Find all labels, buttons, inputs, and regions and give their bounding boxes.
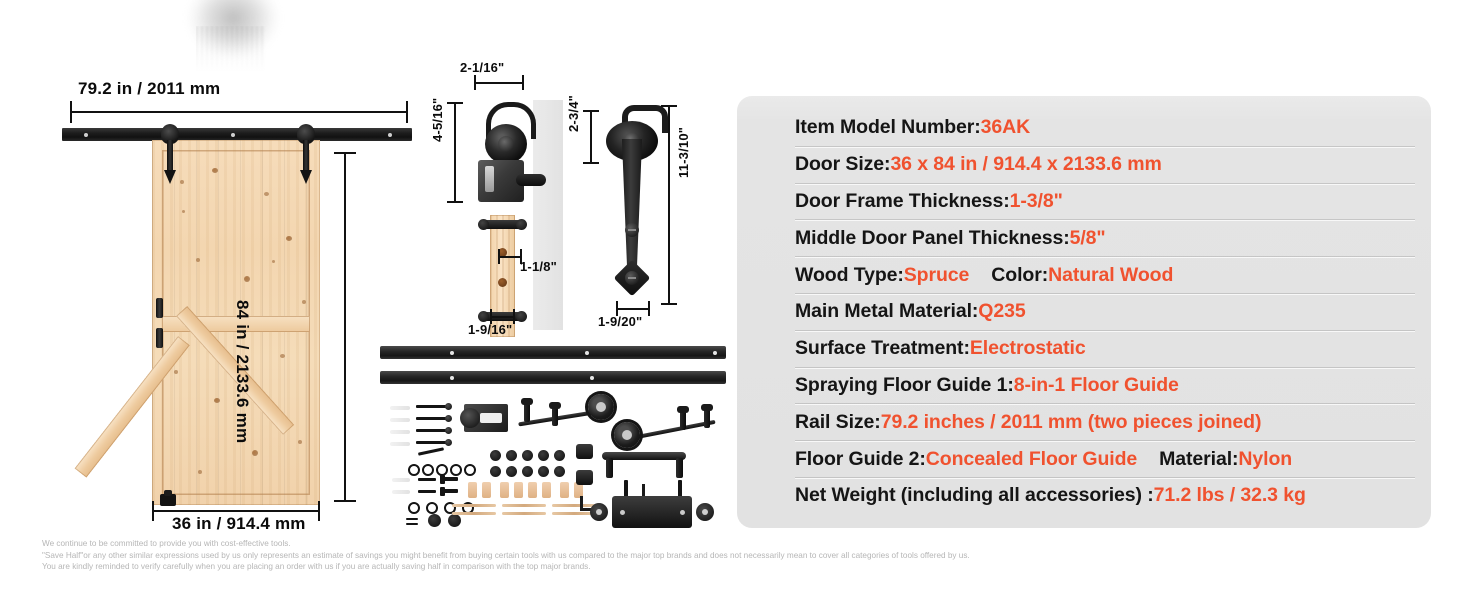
wrench-tool (418, 447, 444, 455)
hanger-wheel-diameter-label: 2-3/4" (566, 95, 581, 132)
hex-nut (554, 450, 565, 461)
post-offset-label: 1-1/8" (520, 259, 557, 274)
track-rail-piece-2 (380, 371, 726, 384)
roller-width-cap-left (474, 75, 476, 90)
spec-value: 8-in-1 Floor Guide (1014, 374, 1179, 397)
plate-hole (620, 510, 625, 515)
wood-knot (174, 370, 178, 374)
spec-value: 1-3/8" (1010, 190, 1063, 213)
wood-knot (298, 440, 302, 444)
roller-height-cap-bottom (447, 201, 463, 203)
included-parts-layout (380, 340, 730, 535)
roller-width-cap-right (522, 75, 524, 90)
floor-guide-bracket (160, 494, 176, 506)
rubber-bumper (448, 514, 461, 527)
spec-row: Main Metal Material: Q235 (795, 294, 1415, 331)
disclaimer-line-3: You are kindly reminded to verify carefu… (42, 561, 1142, 573)
wall-anchor (482, 482, 491, 498)
hanger-wheel-cap-bottom (583, 162, 599, 164)
spec-value: 36 x 84 in / 914.4 x 2133.6 mm (890, 153, 1161, 176)
door-height-label: 84 in / 2133.6 mm (232, 300, 252, 443)
wall-anchor (542, 482, 551, 498)
spec-row: Wood Type: SpruceColor: Natural Wood (795, 257, 1415, 294)
roller-height-dimension-line (454, 102, 456, 203)
door-width-label: 36 in / 914.4 mm (172, 514, 306, 534)
track-hole (590, 376, 594, 380)
spacer-sleeve (390, 418, 410, 422)
small-washer (408, 464, 420, 476)
product-spec-image: 79.2 in / 2011 mm (0, 0, 1464, 600)
small-washer (464, 464, 476, 476)
bolt-head (445, 403, 452, 410)
door-assembly-diagram: 79.2 in / 2011 mm (0, 0, 430, 535)
lag-screw (502, 512, 546, 515)
guide-wheel (696, 503, 714, 521)
rubber-bumper (428, 514, 441, 527)
post-width-dimension-line (490, 316, 515, 318)
hanger-detail-strap (620, 139, 644, 271)
disclaimer-text: We continue to be committed to provide y… (42, 538, 1142, 573)
door-hanger-right (297, 124, 315, 184)
rail-width-dimension-cap-right (406, 101, 408, 123)
flat-washer (506, 466, 517, 477)
hardware-detail-diagram: 2-1/16" 4-5/16" 1-1/8" 1-9/16" 2-3/4" 11… (420, 60, 720, 350)
hanger-wheel-dimension-line (590, 110, 592, 164)
wood-knot (198, 470, 202, 474)
bolt-head (445, 439, 452, 446)
door-height-dimension-line (344, 152, 346, 502)
wood-knot (286, 236, 292, 241)
wood-knot (272, 260, 275, 263)
pin (406, 523, 418, 525)
roller-arm (516, 174, 546, 186)
track-hole (450, 376, 454, 380)
wood-knot (212, 168, 218, 173)
track-hole (585, 351, 589, 355)
track-stopper (576, 444, 593, 459)
hanger-tip (300, 170, 312, 184)
spec-value: Electrostatic (970, 337, 1086, 360)
door-edge-strap (156, 298, 163, 318)
wood-knot (252, 450, 258, 456)
spec-label: Material: (1159, 448, 1238, 471)
bracket-wheel (460, 408, 480, 428)
guide-stud (552, 406, 558, 426)
wood-knot (182, 210, 185, 213)
post-offset-dimension-line (498, 256, 522, 258)
spec-label: Surface Treatment: (795, 337, 970, 360)
wood-knot (196, 258, 200, 262)
spec-row: Door Frame Thickness: 1-3/8" (795, 184, 1415, 221)
spec-label: Rail Size: (795, 411, 881, 434)
floor-guide-assembly-1 (518, 398, 618, 438)
flat-washer (522, 466, 533, 477)
post-screw-lower (498, 278, 507, 287)
spec-label: Floor Guide 2: (795, 448, 926, 471)
spacer-sleeve (390, 442, 410, 446)
door-width-dimension-line (152, 510, 320, 512)
small-washer (426, 502, 438, 514)
lag-screw (452, 512, 496, 515)
small-washer (408, 502, 420, 514)
plastic-anchor (392, 490, 410, 494)
roller-assembly (472, 102, 542, 214)
short-screw (418, 478, 436, 481)
plate-hole (680, 510, 685, 515)
spec-label: Door Size: (795, 153, 890, 176)
roller-height-cap-top (447, 102, 463, 104)
spec-row: Middle Door Panel Thickness: 5/8" (795, 220, 1415, 257)
spec-label: Wood Type: (795, 264, 904, 287)
spec-label: Spraying Floor Guide 1: (795, 374, 1014, 397)
rail-width-dimension-cap-left (70, 101, 72, 123)
spec-row: Surface Treatment: Electrostatic (795, 331, 1415, 368)
hanger-strap (167, 140, 173, 174)
lag-screw (502, 504, 546, 507)
spec-value: 5/8" (1070, 227, 1106, 250)
track-stopper (576, 470, 593, 485)
hanger-strap (303, 140, 309, 174)
track-hole (713, 351, 717, 355)
wood-knot (180, 180, 184, 184)
roller-wheel (485, 124, 527, 164)
rail-mount-hole (388, 133, 392, 137)
hex-nut (538, 450, 549, 461)
hanger-detail-view (598, 105, 664, 305)
spec-value: 71.2 lbs / 32.3 kg (1154, 484, 1306, 507)
spec-value: 36AK (981, 116, 1030, 139)
hanger-wheel-cap-top (583, 110, 599, 112)
guide-wheel (590, 503, 608, 521)
flat-washer (490, 466, 501, 477)
pin (406, 518, 418, 520)
roller-width-dimension-line (474, 82, 524, 84)
guide-rod (630, 420, 715, 440)
door-width-dimension-cap-right (318, 501, 320, 521)
spec-row: Door Size: 36 x 84 in / 914.4 x 2133.6 m… (795, 147, 1415, 184)
spec-value: Spruce (904, 264, 970, 287)
hanger-tip (164, 170, 176, 184)
post-offset-cap-left (498, 249, 500, 264)
spec-row: Rail Size: 79.2 inches / 2011 mm (two pi… (795, 404, 1415, 441)
roller-height-label: 4-5/16" (430, 98, 445, 142)
spec-row: Spraying Floor Guide 1: 8-in-1 Floor Gui… (795, 368, 1415, 405)
spec-label: Door Frame Thickness: (795, 190, 1010, 213)
spec-value: Natural Wood (1048, 264, 1173, 287)
post-width-cap-right (513, 309, 515, 324)
spec-row: Net Weight (including all accessories) :… (795, 478, 1415, 514)
guide-roller-gear (614, 422, 640, 448)
hanger-length-dimension-line (668, 105, 670, 305)
hex-nut (506, 450, 517, 461)
screw-shaft (444, 477, 458, 481)
door-pull-handle-bar (602, 452, 686, 460)
spec-value: Q235 (978, 300, 1025, 323)
short-screw (418, 490, 436, 493)
hanger-mid-bolt (625, 223, 639, 237)
handle-post-right (676, 458, 683, 478)
door-edge-strap (156, 328, 163, 348)
wall-anchor (528, 482, 537, 498)
screw-shaft (444, 489, 458, 493)
post-width-label: 1-9/16" (468, 322, 512, 337)
specification-rows: Item Model Number: 36AKDoor Size: 36 x 8… (795, 110, 1415, 514)
guide-stud (680, 410, 686, 430)
spec-value: 79.2 inches / 2011 mm (two pieces joined… (881, 411, 1262, 434)
handle-post-left (606, 458, 613, 478)
spec-label: Color: (991, 264, 1048, 287)
spec-label: Item Model Number: (795, 116, 981, 139)
guide-rod (518, 410, 600, 427)
rail-width-label: 79.2 in / 2011 mm (78, 79, 220, 99)
hanger-width-dimension-line (616, 308, 650, 310)
wood-knot (214, 398, 220, 403)
disclaimer-line-1: We continue to be committed to provide y… (42, 538, 1142, 550)
hanger-length-cap-bottom (661, 303, 677, 305)
anti-jump-bracket (464, 404, 508, 432)
track-hole (450, 351, 454, 355)
wall-anchor (560, 482, 569, 498)
guide-stud (704, 408, 710, 428)
spec-label: Main Metal Material: (795, 300, 978, 323)
guide-stud (524, 402, 530, 422)
small-washer (422, 464, 434, 476)
hanger-length-label: 11-3/10" (676, 127, 691, 178)
disclaimer-line-2: "Save Half"or any other similar expressi… (42, 550, 1142, 562)
spacer-sleeve (390, 430, 410, 434)
rail-mount-hole (231, 133, 235, 137)
floor-guide-assembly-2 (608, 412, 718, 452)
wall-anchor (468, 482, 477, 498)
flat-washer (538, 466, 549, 477)
specification-panel: Item Model Number: 36AKDoor Size: 36 x 8… (737, 96, 1431, 528)
rail-width-dimension-line (70, 111, 408, 113)
door-hanger-left (161, 124, 179, 184)
spacer-sleeve (390, 406, 410, 410)
roller-width-label: 2-1/16" (460, 60, 504, 75)
wall-anchor (514, 482, 523, 498)
rail-mount-hole (84, 133, 88, 137)
hanger-tip-bolt (625, 271, 639, 285)
bolt-head (445, 415, 452, 422)
spec-label: Middle Door Panel Thickness: (795, 227, 1070, 250)
spec-row: Floor Guide 2: Concealed Floor GuideMate… (795, 441, 1415, 478)
wood-knot (302, 300, 306, 304)
spec-value: Concealed Floor Guide (926, 448, 1137, 471)
spec-row: Item Model Number: 36AK (795, 110, 1415, 147)
hanger-width-cap-right (648, 301, 650, 316)
plastic-anchor (392, 478, 410, 482)
door-width-dimension-cap-left (152, 501, 154, 521)
hex-nut (490, 450, 501, 461)
door-height-dimension-cap-top (334, 152, 356, 154)
door-height-dimension-cap-bottom (334, 500, 356, 502)
wall-anchor (500, 482, 509, 498)
track-rail-piece-1 (380, 346, 726, 359)
spec-value: Nylon (1238, 448, 1292, 471)
hanger-width-label: 1-9/20" (598, 314, 642, 329)
spec-label: Net Weight (including all accessories) : (795, 484, 1154, 507)
small-washer (450, 464, 462, 476)
hanger-length-cap-top (661, 105, 677, 107)
post-bracket-upper (480, 220, 525, 229)
wood-knot (264, 192, 269, 196)
bolt-head (445, 427, 452, 434)
lag-screw (452, 504, 496, 507)
wood-knot (244, 276, 250, 282)
hex-nut (522, 450, 533, 461)
flat-washer (554, 466, 565, 477)
wood-knot (280, 354, 285, 358)
